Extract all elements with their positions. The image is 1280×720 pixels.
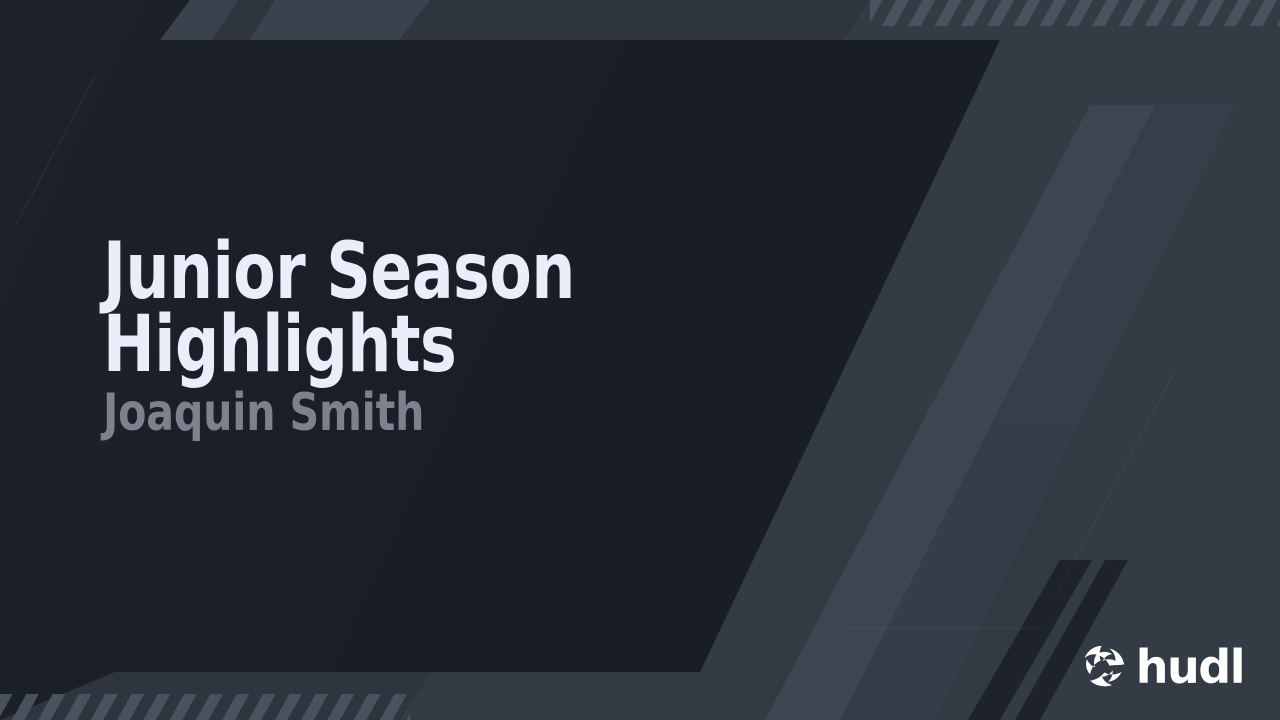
title-block: Junior Season Highlights Joaquin Smith <box>103 236 639 439</box>
hash-stripes-top-right <box>870 0 1280 26</box>
hudl-pinwheel-icon <box>1080 644 1126 690</box>
hairline-accent-left <box>15 75 96 226</box>
hudl-wordmark: hudl <box>1136 644 1244 690</box>
hairline-accent-right <box>1053 370 1176 600</box>
highlight-title-card: Junior Season Highlights Joaquin Smith h… <box>0 0 1280 720</box>
background-wedge-top-left <box>0 0 520 130</box>
hudl-logo: hudl <box>1080 644 1244 690</box>
athlete-name: Joaquin Smith <box>103 387 575 439</box>
hairline-accent-horizontal <box>845 628 1045 629</box>
hash-stripes-bottom-left <box>0 694 410 720</box>
page-title: Junior Season Highlights <box>103 236 575 381</box>
